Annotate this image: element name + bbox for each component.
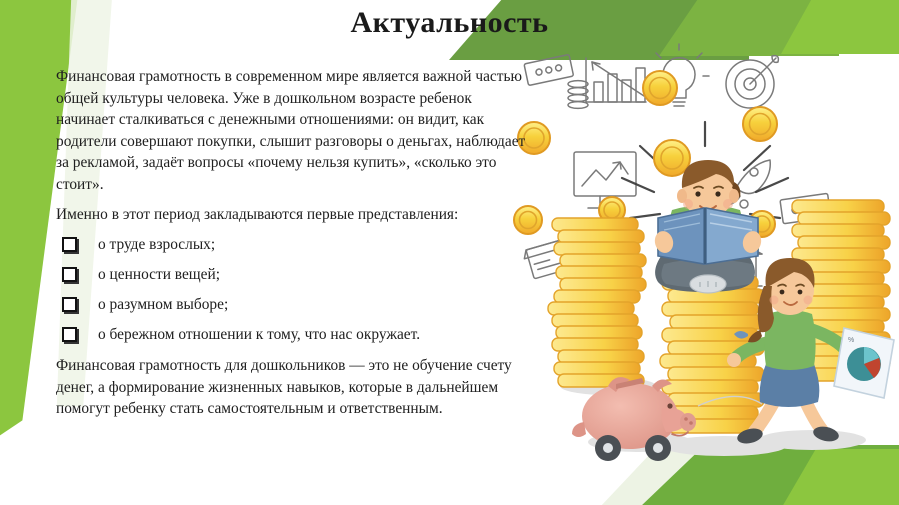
- list-item-label: о бережном отношении к тому, что нас окр…: [98, 326, 420, 343]
- shadow: [758, 430, 866, 450]
- wheel: [645, 435, 671, 461]
- checkbox-square-icon: [62, 297, 77, 312]
- checkbox-square-icon: [62, 237, 77, 252]
- bar-chart-icon: [586, 58, 646, 102]
- paragraph-intro: Финансовая грамотность в современном мир…: [56, 66, 526, 195]
- slide-title: Актуальность: [0, 6, 899, 40]
- bullet-list: о труде взрослых; о ценности вещей; о ра…: [56, 235, 526, 345]
- tail: [572, 422, 586, 437]
- coin-stack-left: [548, 218, 646, 387]
- illustration-financial-literacy: %: [512, 42, 899, 472]
- wheel: [595, 435, 621, 461]
- slide-actualnost: Актуальность Финансовая грамотность в со…: [0, 0, 899, 505]
- svg-text:%: %: [848, 337, 854, 344]
- slide-body-text: Финансовая грамотность в современном мир…: [56, 66, 526, 420]
- list-item-label: о труде взрослых;: [98, 236, 215, 253]
- paragraph-conclusion: Финансовая грамотность для дошкольников …: [56, 355, 526, 420]
- list-item: о ценности вещей;: [56, 265, 526, 285]
- paragraph-lead-in: Именно в этот период закладываются первы…: [56, 204, 526, 226]
- list-item-label: о разумном выборе;: [98, 296, 228, 313]
- checkbox-square-icon: [62, 267, 77, 282]
- list-item: о труде взрослых;: [56, 235, 526, 255]
- pie-chart-sheet: %: [834, 328, 894, 398]
- coin: [654, 140, 690, 176]
- coin-stack-doodle-icon: [568, 81, 588, 109]
- coin: [743, 107, 777, 141]
- list-item-label: о ценности вещей;: [98, 266, 220, 283]
- list-item: о разумном выборе;: [56, 295, 526, 315]
- target-icon: [726, 56, 778, 108]
- boy-reading-book: [652, 160, 763, 293]
- checkbox-square-icon: [62, 327, 77, 342]
- banknote-icon: [524, 54, 574, 85]
- coin: [643, 71, 677, 105]
- list-item: о бережном отношении к тому, что нас окр…: [56, 325, 526, 345]
